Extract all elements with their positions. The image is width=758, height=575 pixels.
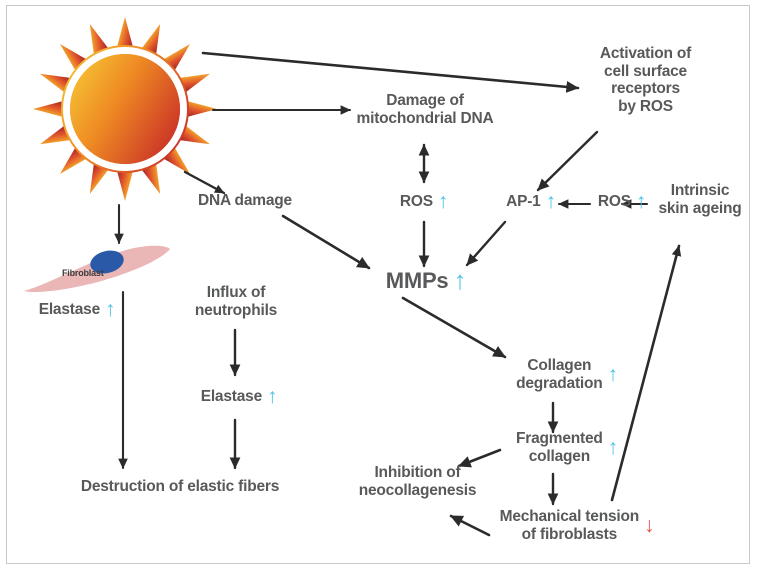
node-ap-1: AP-1 ↑	[498, 190, 564, 214]
increase-arrow-icon: ↑	[453, 266, 466, 296]
increase-arrow-icon: ↑	[608, 363, 618, 387]
fibroblast-label: Fibroblast	[62, 268, 104, 278]
node-mmps-label: MMPs	[386, 268, 449, 293]
node-ros-right: ROS ↑	[591, 190, 653, 214]
node-collagen-degradation-label: Collagen degradation	[516, 357, 603, 392]
diagram-canvas: Fibroblast	[0, 0, 758, 575]
increase-arrow-icon: ↑	[438, 190, 448, 214]
increase-arrow-icon: ↑	[105, 298, 115, 322]
node-dna-damage: DNA damage	[184, 192, 306, 210]
increase-arrow-icon: ↑	[267, 385, 277, 409]
node-elastase-fibroblast-label: Elastase	[39, 301, 100, 319]
node-fragmented-collagen: Fragmented collagen ↑	[504, 430, 630, 465]
node-inhibition-neocollagenesis: Inhibition of neocollagenesis	[340, 464, 495, 499]
node-ros-left: ROS ↑	[393, 190, 455, 214]
sun-icon	[32, 16, 218, 202]
node-elastase-neutrophil-label: Elastase	[201, 388, 262, 406]
node-fragmented-collagen-label: Fragmented collagen	[516, 430, 603, 465]
node-damage-mtdna: Damage of mitochondrial DNA	[352, 92, 498, 127]
node-destruction-fibers: Destruction of elastic fibers	[49, 478, 311, 496]
node-intrinsic-ageing: Intrinsic skin ageing	[650, 182, 750, 217]
node-mechanical-tension-label: Mechanical tension of fibroblasts	[500, 508, 639, 543]
node-mmps: MMPs ↑	[372, 266, 480, 296]
node-ros-right-label: ROS	[598, 193, 631, 211]
increase-arrow-icon: ↑	[608, 436, 618, 460]
node-influx-neutrophils: Influx of neutrophils	[178, 284, 294, 319]
node-elastase-neutrophil: Elastase ↑	[186, 385, 292, 409]
node-mechanical-tension: Mechanical tension of fibroblasts ↓	[488, 508, 666, 543]
node-activation-receptors: Activation of cell surface receptors by …	[583, 45, 708, 116]
node-ros-left-label: ROS	[400, 193, 433, 211]
node-collagen-degradation: Collagen degradation ↑	[504, 357, 630, 392]
increase-arrow-icon: ↑	[546, 190, 556, 214]
increase-arrow-icon: ↑	[636, 190, 646, 214]
decrease-arrow-icon: ↓	[644, 514, 654, 538]
node-elastase-fibroblast: Elastase ↑	[24, 298, 130, 322]
node-ap-1-label: AP-1	[506, 193, 541, 211]
